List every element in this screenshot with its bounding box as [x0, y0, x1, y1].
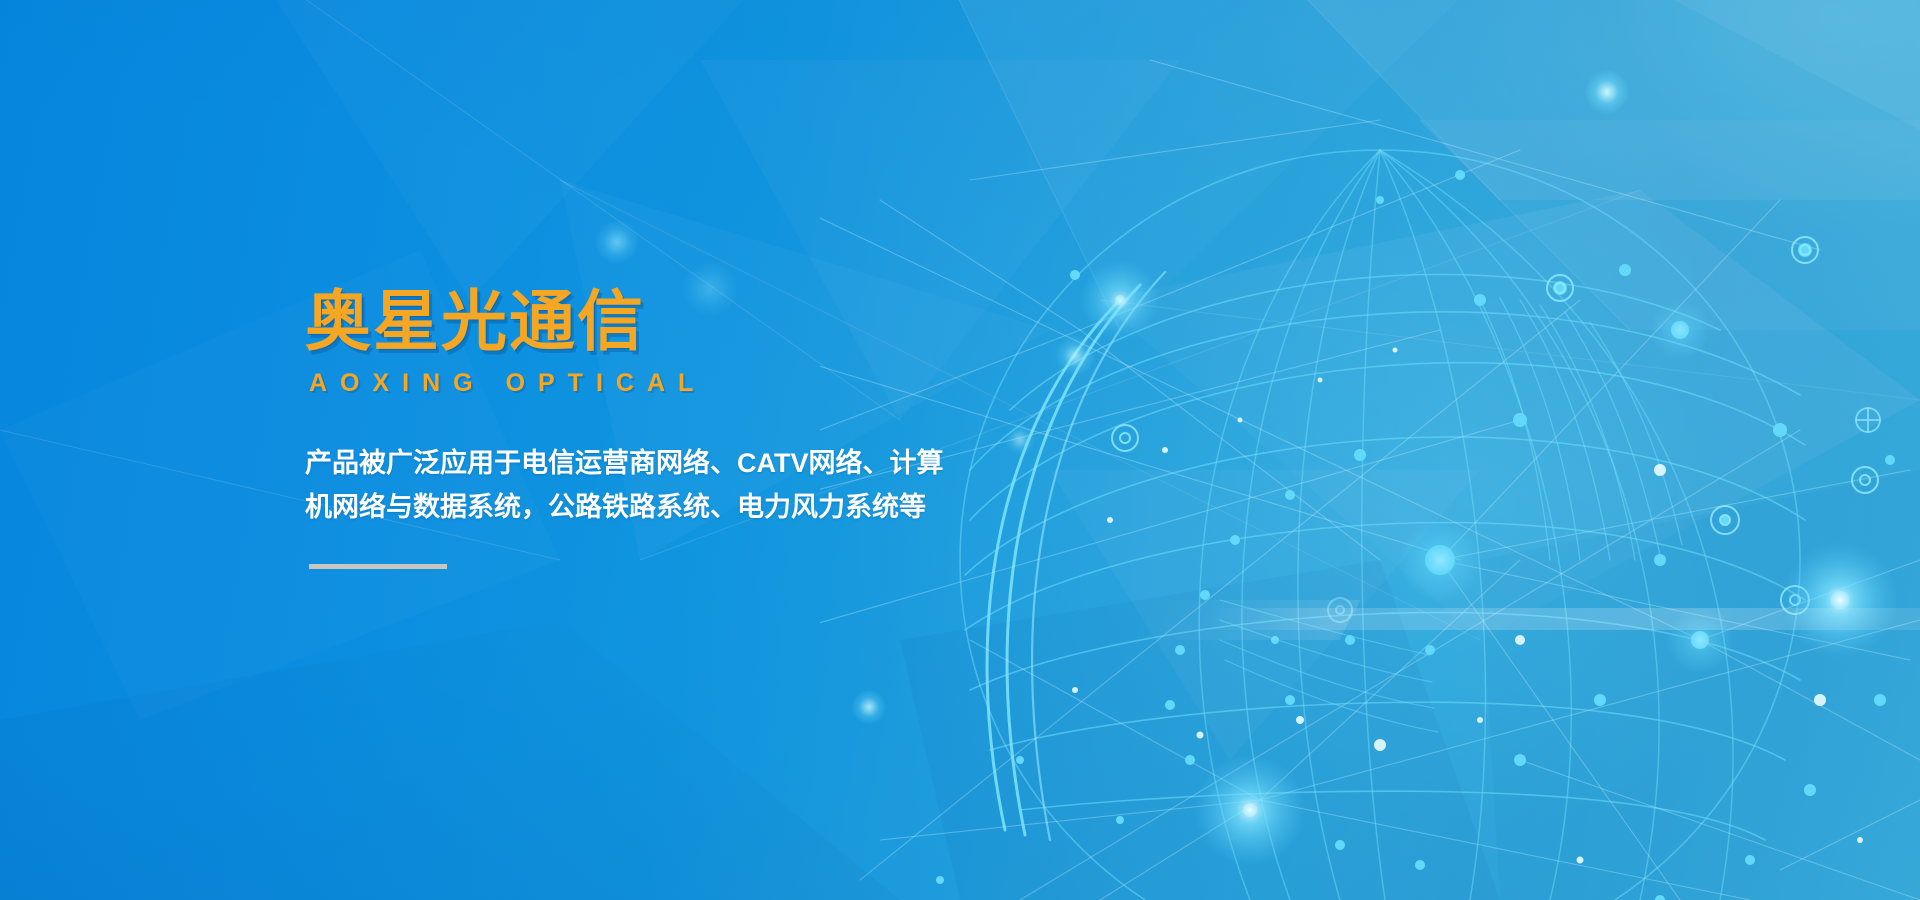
hero-description: 产品被广泛应用于电信运营商网络、CATV网络、计算机网络与数据系统，公路铁路系统… [305, 442, 945, 529]
brand-name-chinese: 奥星光通信 [305, 288, 1005, 355]
hero-banner: 奥星光通信 AOXING OPTICAL 产品被广泛应用于电信运营商网络、CAT… [0, 0, 1920, 900]
hero-copy: 奥星光通信 AOXING OPTICAL 产品被广泛应用于电信运营商网络、CAT… [305, 288, 1005, 569]
brand-name-english: AOXING OPTICAL [309, 369, 1005, 398]
horizontal-light-band-feather [1139, 600, 1360, 640]
accent-divider [309, 564, 447, 569]
